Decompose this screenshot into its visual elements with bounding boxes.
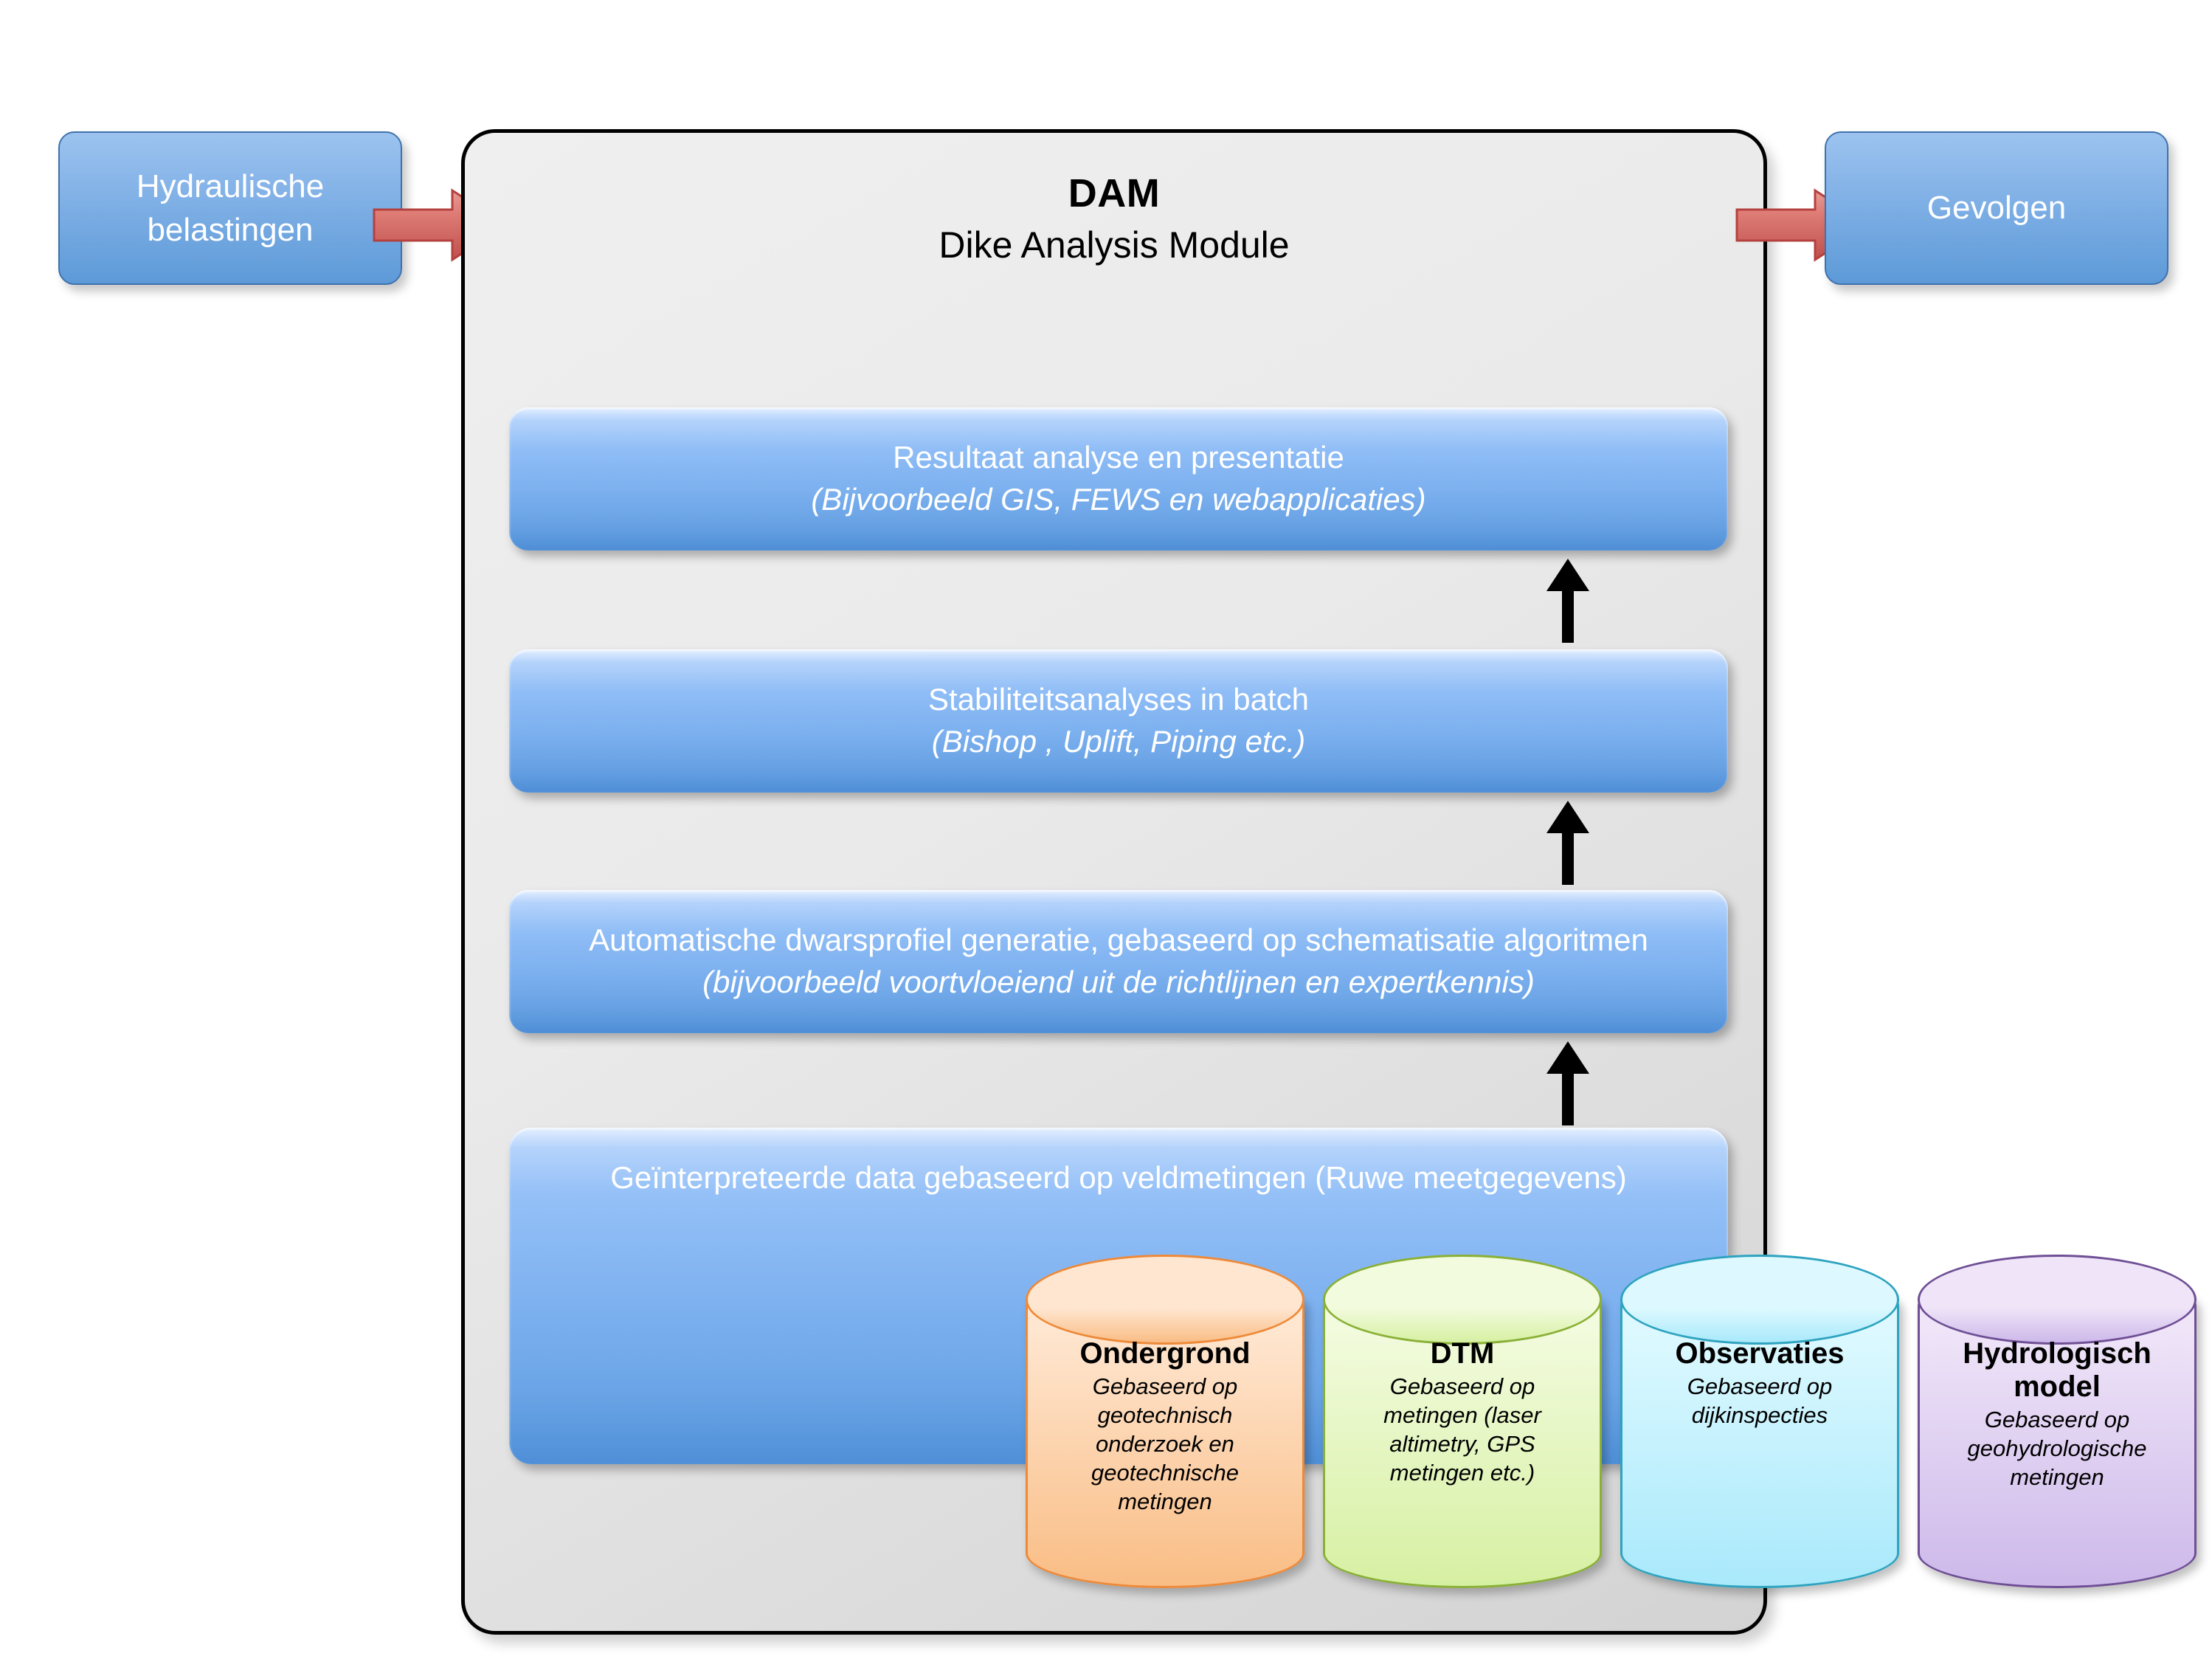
layer-profile-line1: Automatische dwarsprofiel generatie, geb… bbox=[589, 920, 1648, 962]
layer-result-line2: (Bijvoorbeeld GIS, FEWS en webapplicatie… bbox=[811, 479, 1425, 521]
up-arrow-icon-3 bbox=[1544, 1040, 1592, 1127]
cylinder-title: Observaties bbox=[1642, 1337, 1877, 1370]
data-source-cylinder-dtm[interactable]: DTM Gebaseerd op metingen (laser altimet… bbox=[1323, 1255, 1602, 1588]
cylinder-top-ellipse bbox=[1026, 1255, 1304, 1345]
layer-cross-section-generation[interactable]: Automatische dwarsprofiel generatie, geb… bbox=[509, 890, 1728, 1033]
data-source-cylinder-hydrologisch-model[interactable]: Hydrologisch model Gebaseerd op geohydro… bbox=[1918, 1255, 2197, 1588]
cylinder-top-ellipse bbox=[1323, 1255, 1602, 1345]
cylinder-text: Observaties Gebaseerd op dijkinspecties bbox=[1642, 1337, 1877, 1429]
cylinder-title: DTM bbox=[1345, 1337, 1580, 1370]
up-arrow-icon-1 bbox=[1544, 557, 1592, 644]
layer-result-analysis[interactable]: Resultaat analyse en presentatie (Bijvoo… bbox=[509, 407, 1728, 551]
up-arrow-icon-2 bbox=[1544, 799, 1592, 886]
cylinder-text: Ondergrond Gebaseerd op geotechnisch ond… bbox=[1048, 1337, 1282, 1516]
layer-stability-line1: Stabiliteitsanalyses in batch bbox=[928, 679, 1309, 721]
layer-data-label: Geïnterpreteerde data gebaseerd op veldm… bbox=[509, 1160, 1728, 1196]
cylinder-top-ellipse bbox=[1620, 1255, 1899, 1345]
dam-container: DAM Dike Analysis Module Resultaat analy… bbox=[461, 129, 1767, 1635]
layer-profile-line2: (bijvoorbeeld voortvloeiend uit de richt… bbox=[702, 962, 1535, 1004]
cylinder-text: DTM Gebaseerd op metingen (laser altimet… bbox=[1345, 1337, 1580, 1487]
layer-stability-line2: (Bishop , Uplift, Piping etc.) bbox=[932, 721, 1306, 763]
output-box-label: Gevolgen bbox=[1927, 186, 2066, 230]
cylinder-title: Ondergrond bbox=[1048, 1337, 1282, 1370]
cylinder-subtitle: Gebaseerd op metingen (laser altimetry, … bbox=[1345, 1372, 1580, 1487]
dam-title-sub: Dike Analysis Module bbox=[465, 223, 1763, 268]
input-box-label: Hydraulische belastingen bbox=[60, 165, 401, 252]
cylinder-text: Hydrologisch model Gebaseerd op geohydro… bbox=[1940, 1337, 2174, 1491]
cylinder-subtitle: Gebaseerd op dijkinspecties bbox=[1642, 1372, 1877, 1429]
cylinder-subtitle: Gebaseerd op geotechnisch onderzoek en g… bbox=[1048, 1372, 1282, 1516]
cylinder-title: Hydrologisch model bbox=[1940, 1337, 2174, 1404]
cylinder-top-ellipse bbox=[1918, 1255, 2197, 1345]
input-box-hydraulic-loads[interactable]: Hydraulische belastingen bbox=[58, 131, 402, 285]
data-source-cylinder-ondergrond[interactable]: Ondergrond Gebaseerd op geotechnisch ond… bbox=[1026, 1255, 1304, 1588]
layer-result-line1: Resultaat analyse en presentatie bbox=[893, 437, 1344, 479]
cylinder-subtitle: Gebaseerd op geohydrologische metingen bbox=[1940, 1405, 2174, 1491]
output-box-consequences[interactable]: Gevolgen bbox=[1825, 131, 2168, 285]
data-source-cylinder-observaties[interactable]: Observaties Gebaseerd op dijkinspecties bbox=[1620, 1255, 1899, 1588]
dam-title-main: DAM bbox=[465, 170, 1763, 218]
layer-stability-analyses[interactable]: Stabiliteitsanalyses in batch (Bishop , … bbox=[509, 649, 1728, 793]
page-title: DAM Dike Analysis Module bbox=[465, 170, 1763, 268]
